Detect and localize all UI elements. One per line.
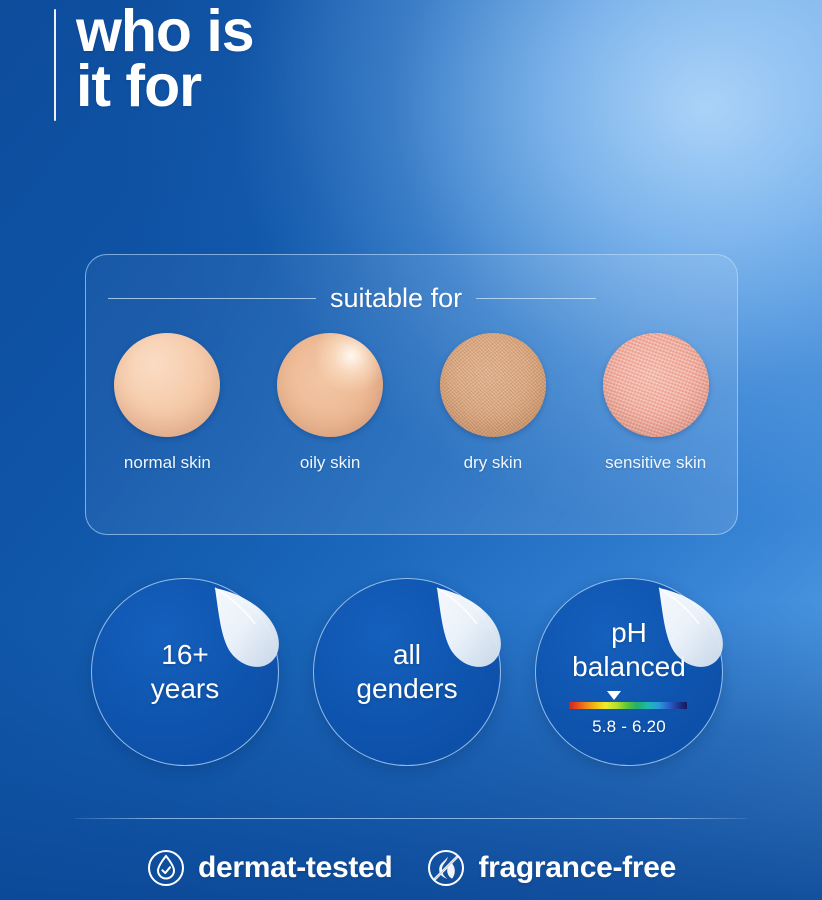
- header-rule-left: [108, 298, 316, 299]
- feature-line-2: balanced: [572, 650, 686, 684]
- page-title: who is it for: [76, 4, 254, 121]
- claims-row: dermat-tested fragrance-free: [0, 848, 822, 888]
- feature-circle-genders: all genders: [313, 578, 507, 772]
- skin-type-list: normal skin oily skin dry skin sensitive…: [86, 333, 737, 473]
- skin-type-label-sensitive: sensitive skin: [605, 453, 706, 473]
- feature-circle-text: pH balanced 5.8 - 6.20: [535, 578, 723, 766]
- skin-label-line-2: skin: [676, 453, 706, 472]
- section-divider: [75, 818, 747, 819]
- feature-circle-list: 16+ years all genders pH balanced 5.8 - …: [0, 578, 822, 778]
- feature-circle-text: all genders: [313, 578, 501, 766]
- feature-line-2: years: [151, 672, 219, 706]
- skin-type-label-normal: normal skin: [124, 453, 211, 473]
- title-accent-rule: [54, 9, 56, 121]
- skin-type-item-normal: normal skin: [86, 333, 249, 473]
- skin-label-line-1: dry skin: [464, 453, 523, 472]
- suitable-for-heading: suitable for: [316, 283, 476, 314]
- no-fragrance-icon: [426, 848, 466, 888]
- claim-dermat-tested: dermat-tested: [146, 848, 392, 888]
- suitable-for-header: suitable for: [86, 283, 737, 314]
- feature-circle-text: 16+ years: [91, 578, 279, 766]
- ph-value-label: 5.8 - 6.20: [569, 717, 689, 737]
- skin-type-label-dry: dry skin: [464, 453, 523, 473]
- skin-swatch-sensitive-icon: [603, 333, 709, 437]
- feature-circle-age: 16+ years: [91, 578, 285, 772]
- skin-type-label-oily: oily skin: [300, 453, 360, 473]
- skin-type-item-oily: oily skin: [249, 333, 412, 473]
- skin-swatch-dry-icon: [440, 333, 546, 437]
- ph-scale: 5.8 - 6.20: [569, 691, 689, 737]
- feature-line-1: all: [393, 638, 421, 672]
- skin-type-item-sensitive: sensitive skin: [574, 333, 737, 473]
- page-title-line-1: who is: [76, 4, 254, 59]
- skin-swatch-normal-icon: [114, 333, 220, 437]
- feature-line-1: pH: [611, 616, 647, 650]
- feature-line-1: 16+: [161, 638, 209, 672]
- ph-marker-icon: [607, 691, 621, 700]
- page-title-block: who is it for: [54, 4, 254, 121]
- skin-swatch-oily-icon: [277, 333, 383, 437]
- claim-label: dermat-tested: [198, 851, 392, 885]
- page-title-line-2: it for: [76, 59, 254, 114]
- feature-circle-ph: pH balanced 5.8 - 6.20: [535, 578, 729, 772]
- feature-line-2: genders: [356, 672, 457, 706]
- header-rule-right: [476, 298, 596, 299]
- skin-label-line-1: normal: [124, 453, 176, 472]
- skin-label-line-1: sensitive: [605, 453, 671, 472]
- skin-label-line-1: oily skin: [300, 453, 360, 472]
- skin-type-item-dry: dry skin: [412, 333, 575, 473]
- suitable-for-card: suitable for normal skin oily skin dry s…: [85, 254, 738, 535]
- droplet-check-icon: [146, 848, 186, 888]
- skin-label-line-2: skin: [181, 453, 211, 472]
- claim-fragrance-free: fragrance-free: [426, 848, 676, 888]
- ph-gradient-bar: [569, 702, 687, 709]
- claim-label: fragrance-free: [478, 851, 676, 885]
